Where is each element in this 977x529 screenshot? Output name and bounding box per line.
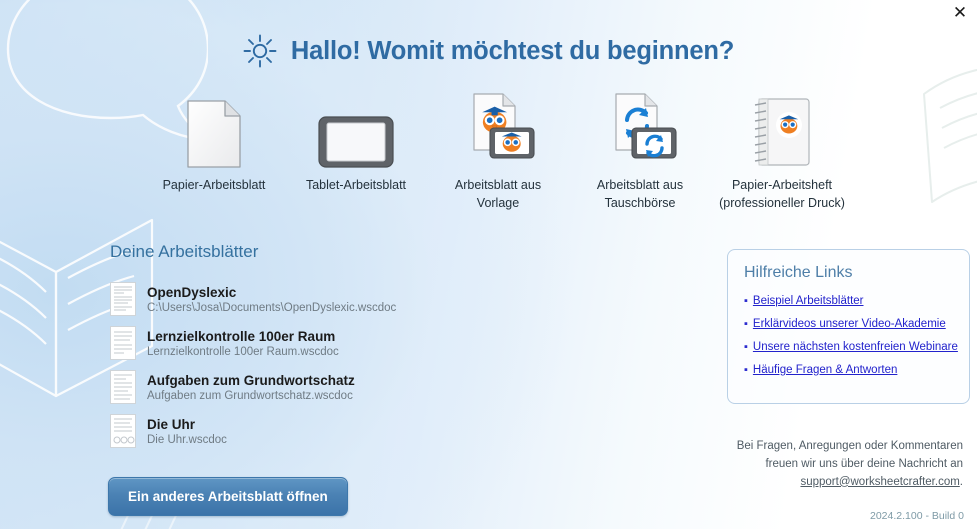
link-erklaervideos[interactable]: Erklärvideos unserer Video-Akademie: [753, 318, 946, 330]
tile-label: Papier-Arbeitsblatt: [163, 177, 266, 195]
welcome-header: Hallo! Womit möchtest du beginnen?: [0, 34, 977, 68]
helpful-link-row[interactable]: ▪ Unsere nächsten kostenfreien Webinare: [744, 341, 953, 353]
tile-worksheet-template[interactable]: Arbeitsblatt aus Vorlage: [432, 92, 564, 213]
worksheet-path: C:\Users\Josa\Documents\OpenDyslexic.wsc…: [147, 302, 396, 314]
helpful-link-row[interactable]: ▪ Häufige Fragen & Antworten: [744, 364, 953, 376]
list-item[interactable]: Lernzielkontrolle 100er Raum Lernzielkon…: [110, 321, 610, 365]
sun-icon: [243, 34, 277, 68]
tablet-icon: [317, 92, 395, 170]
document-icon: [185, 92, 243, 170]
worksheet-list: OpenDyslexic C:\Users\Josa\Documents\Ope…: [110, 277, 610, 453]
support-note-line2: freuen wir uns über deine Nachricht an: [683, 456, 963, 474]
worksheet-name: OpenDyslexic: [147, 285, 396, 300]
worksheet-name: Die Uhr: [147, 417, 227, 432]
list-item[interactable]: OpenDyslexic C:\Users\Josa\Documents\Ope…: [110, 277, 610, 321]
tile-label: Arbeitsblatt aus Vorlage: [432, 177, 564, 213]
support-note-line1: Bei Fragen, Anregungen oder Kommentaren: [683, 438, 963, 456]
support-note-period: .: [960, 476, 963, 488]
link-webinare[interactable]: Unsere nächsten kostenfreien Webinare: [753, 341, 958, 353]
list-item[interactable]: Aufgaben zum Grundwortschatz Aufgaben zu…: [110, 365, 610, 409]
worksheet-name: Lernzielkontrolle 100er Raum: [147, 329, 339, 344]
tile-label: Papier-Arbeitsheft (professioneller Druc…: [716, 177, 848, 213]
tile-worksheet-exchange[interactable]: Arbeitsblatt aus Tauschbörse: [574, 92, 706, 213]
helpful-links-title: Hilfreiche Links: [744, 264, 953, 282]
helpful-link-row[interactable]: ▪ Erklärvideos unserer Video-Akademie: [744, 318, 953, 330]
action-tiles: Papier-Arbeitsblatt Tablet-Arbeitsblatt: [148, 92, 848, 213]
worksheet-path: Lernzielkontrolle 100er Raum.wscdoc: [147, 346, 339, 358]
version-label: 2024.2.100 - Build 0: [870, 510, 964, 522]
close-icon: ✕: [953, 5, 967, 22]
link-beispiel-arbeitsblaetter[interactable]: Beispiel Arbeitsblätter: [753, 295, 864, 307]
support-note: Bei Fragen, Anregungen oder Kommentaren …: [683, 438, 963, 491]
page-title: Hallo! Womit möchtest du beginnen?: [291, 37, 734, 66]
support-note-line3: support@worksheetcrafter.com.: [683, 474, 963, 492]
tile-paper-workbook[interactable]: Papier-Arbeitsheft (professioneller Druc…: [716, 92, 848, 213]
document-thumbnail-icon: [110, 282, 136, 316]
worksheet-path: Die Uhr.wscdoc: [147, 434, 227, 446]
open-other-worksheet-label: Ein anderes Arbeitsblatt öffnen: [128, 489, 328, 504]
welcome-screen: ✕ Hallo! Womit möchtest du beginnen?: [0, 0, 977, 529]
spiral-notebook-owl-icon: [749, 92, 815, 170]
worksheet-name: Aufgaben zum Grundwortschatz: [147, 373, 355, 388]
tile-paper-worksheet[interactable]: Papier-Arbeitsblatt: [148, 92, 280, 195]
worksheet-path: Aufgaben zum Grundwortschatz.wscdoc: [147, 390, 355, 402]
book-pages-decoration: [910, 56, 977, 216]
bullet-icon: ▪: [744, 319, 748, 330]
open-other-worksheet-button[interactable]: Ein anderes Arbeitsblatt öffnen: [108, 477, 348, 516]
helpful-link-row[interactable]: ▪ Beispiel Arbeitsblätter: [744, 295, 953, 307]
owl-document-tablet-icon: [460, 92, 536, 170]
bullet-icon: ▪: [744, 365, 748, 376]
document-thumbnail-icon: [110, 326, 136, 360]
support-email-link[interactable]: support@worksheetcrafter.com: [800, 476, 959, 488]
document-thumbnail-icon: [110, 414, 136, 448]
document-thumbnail-icon: [110, 370, 136, 404]
link-faq[interactable]: Häufige Fragen & Antworten: [753, 364, 897, 376]
tile-label: Arbeitsblatt aus Tauschbörse: [574, 177, 706, 213]
helpful-links-panel: Hilfreiche Links ▪ Beispiel Arbeitsblätt…: [727, 249, 970, 404]
bullet-icon: ▪: [744, 296, 748, 307]
worksheets-section-title: Deine Arbeitsblätter: [110, 242, 258, 262]
bullet-icon: ▪: [744, 342, 748, 353]
tile-tablet-worksheet[interactable]: Tablet-Arbeitsblatt: [290, 92, 422, 195]
close-button[interactable]: ✕: [943, 0, 977, 26]
list-item[interactable]: Die Uhr Die Uhr.wscdoc: [110, 409, 610, 453]
tile-label: Tablet-Arbeitsblatt: [306, 177, 406, 195]
sync-document-tablet-icon: [602, 92, 678, 170]
